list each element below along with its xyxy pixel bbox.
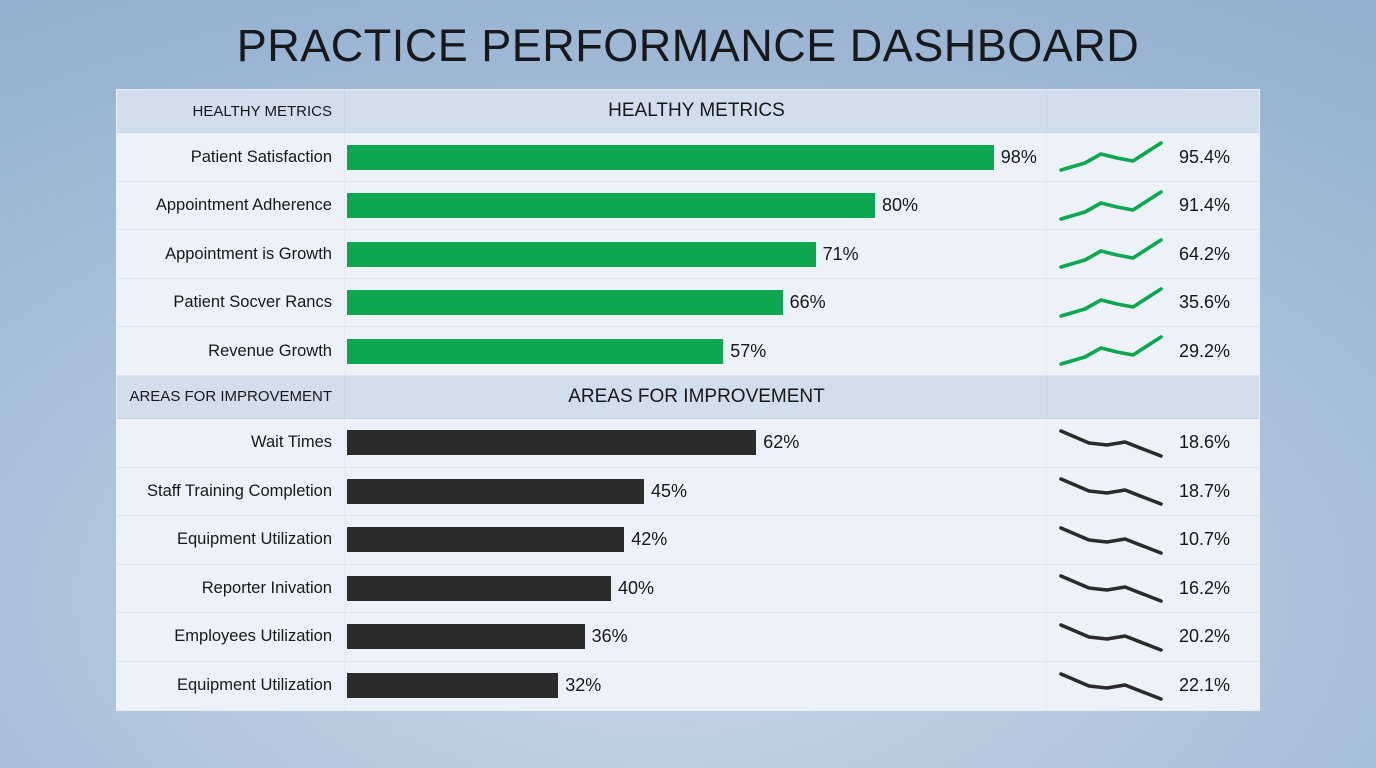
- metric-bar: [347, 339, 723, 364]
- metric-trend-cell: 10.7%: [1047, 516, 1259, 563]
- trend-down-sparkline-icon: [1057, 617, 1165, 657]
- trend-up-sparkline-icon: [1057, 137, 1165, 177]
- metric-row: Wait Times62%18.6%: [117, 419, 1259, 467]
- metric-trend-cell: 35.6%: [1047, 279, 1259, 326]
- metric-bar: [347, 576, 611, 601]
- metric-label: Equipment Utilization: [117, 662, 345, 710]
- bar-wrapper: 66%: [347, 279, 1046, 326]
- bar-wrapper: 45%: [347, 468, 1046, 515]
- metric-bar-cell: 42%: [345, 516, 1047, 563]
- metric-trend-value: 64.2%: [1179, 244, 1230, 265]
- bar-wrapper: 32%: [347, 662, 1046, 710]
- metric-bar: [347, 624, 585, 649]
- metric-trend-cell: 20.2%: [1047, 613, 1259, 660]
- metric-bar-value: 80%: [882, 195, 918, 216]
- metric-row: Employees Utilization36%20.2%: [117, 613, 1259, 661]
- metric-bar-cell: 71%: [345, 230, 1047, 277]
- metric-trend-value: 29.2%: [1179, 341, 1230, 362]
- metric-trend-cell: 91.4%: [1047, 182, 1259, 229]
- metric-trend-value: 20.2%: [1179, 626, 1230, 647]
- bar-wrapper: 98%: [347, 133, 1046, 180]
- page-title: PRACTICE PERFORMANCE DASHBOARD: [0, 20, 1376, 72]
- section-header-left-label: AREAS FOR IMPROVEMENT: [117, 376, 345, 418]
- metric-bar-cell: 80%: [345, 182, 1047, 229]
- metric-bar: [347, 242, 816, 267]
- bar-wrapper: 42%: [347, 516, 1046, 563]
- metric-trend-value: 35.6%: [1179, 292, 1230, 313]
- metric-bar-value: 40%: [618, 578, 654, 599]
- dashboard-page: PRACTICE PERFORMANCE DASHBOARD HEALTHY M…: [0, 0, 1376, 768]
- bar-wrapper: 62%: [347, 419, 1046, 466]
- bar-wrapper: 36%: [347, 613, 1046, 660]
- metric-label: Employees Utilization: [117, 613, 345, 660]
- section-header-trend-cell: [1047, 376, 1259, 418]
- metric-row: Equipment Utilization42%10.7%: [117, 516, 1259, 564]
- metric-label: Patient Satisfaction: [117, 133, 345, 180]
- trend-up-sparkline-icon: [1057, 186, 1165, 226]
- bar-wrapper: 71%: [347, 230, 1046, 277]
- metric-trend-cell: 95.4%: [1047, 133, 1259, 180]
- metric-bar-cell: 62%: [345, 419, 1047, 466]
- trend-up-sparkline-icon: [1057, 283, 1165, 323]
- metric-row: Revenue Growth57%29.2%: [117, 327, 1259, 375]
- metric-bar-value: 42%: [631, 529, 667, 550]
- metric-row: Appointment is Growth71%64.2%: [117, 230, 1259, 278]
- metric-bar-cell: 36%: [345, 613, 1047, 660]
- metric-label: Equipment Utilization: [117, 516, 345, 563]
- trend-down-sparkline-icon: [1057, 520, 1165, 560]
- metric-bar: [347, 479, 644, 504]
- metric-trend-cell: 18.6%: [1047, 419, 1259, 466]
- section-header-row: HEALTHY METRICSHEALTHY METRICS: [117, 90, 1259, 133]
- metric-row: Staff Training Completion45%18.7%: [117, 468, 1259, 516]
- metric-bar-value: 32%: [565, 675, 601, 696]
- metric-label: Revenue Growth: [117, 327, 345, 374]
- section-header-center-label: HEALTHY METRICS: [345, 90, 1047, 132]
- metric-label: Reporter Inivation: [117, 565, 345, 612]
- metric-row: Patient Socver Rancs66%35.6%: [117, 279, 1259, 327]
- bar-wrapper: 80%: [347, 182, 1046, 229]
- section-header-left-label: HEALTHY METRICS: [117, 90, 345, 132]
- metric-bar: [347, 290, 783, 315]
- metric-bar-cell: 66%: [345, 279, 1047, 326]
- metric-bar-value: 71%: [823, 244, 859, 265]
- section-header-center-label: AREAS FOR IMPROVEMENT: [345, 376, 1047, 418]
- trend-down-sparkline-icon: [1057, 423, 1165, 463]
- metric-bar-value: 66%: [790, 292, 826, 313]
- metric-label: Patient Socver Rancs: [117, 279, 345, 326]
- metric-trend-value: 18.6%: [1179, 432, 1230, 453]
- metric-bar: [347, 673, 558, 698]
- metric-bar-cell: 98%: [345, 133, 1047, 180]
- metric-label: Wait Times: [117, 419, 345, 466]
- metrics-table: HEALTHY METRICSHEALTHY METRICSPatient Sa…: [116, 89, 1260, 711]
- metric-bar-value: 98%: [1001, 147, 1037, 168]
- metric-trend-cell: 29.2%: [1047, 327, 1259, 374]
- metric-trend-cell: 18.7%: [1047, 468, 1259, 515]
- metric-bar: [347, 145, 994, 170]
- bar-wrapper: 57%: [347, 327, 1046, 374]
- metric-bar: [347, 527, 624, 552]
- metric-label: Staff Training Completion: [117, 468, 345, 515]
- metric-label: Appointment Adherence: [117, 182, 345, 229]
- metric-bar-cell: 45%: [345, 468, 1047, 515]
- bar-wrapper: 40%: [347, 565, 1046, 612]
- metric-bar-value: 57%: [730, 341, 766, 362]
- section-header-trend-cell: [1047, 90, 1259, 132]
- metric-bar-cell: 32%: [345, 662, 1047, 710]
- metric-trend-value: 16.2%: [1179, 578, 1230, 599]
- section-header-row: AREAS FOR IMPROVEMENTAREAS FOR IMPROVEME…: [117, 376, 1259, 419]
- metric-label: Appointment is Growth: [117, 230, 345, 277]
- trend-down-sparkline-icon: [1057, 568, 1165, 608]
- metric-trend-value: 10.7%: [1179, 529, 1230, 550]
- metric-trend-cell: 22.1%: [1047, 662, 1259, 710]
- metric-row: Reporter Inivation40%16.2%: [117, 565, 1259, 613]
- metric-bar: [347, 193, 875, 218]
- trend-up-sparkline-icon: [1057, 234, 1165, 274]
- metric-trend-cell: 16.2%: [1047, 565, 1259, 612]
- metric-row: Patient Satisfaction98%95.4%: [117, 133, 1259, 181]
- trend-down-sparkline-icon: [1057, 666, 1165, 706]
- metric-trend-value: 22.1%: [1179, 675, 1230, 696]
- metric-trend-value: 95.4%: [1179, 147, 1230, 168]
- metric-bar-cell: 40%: [345, 565, 1047, 612]
- metric-bar: [347, 430, 756, 455]
- metric-row: Appointment Adherence80%91.4%: [117, 182, 1259, 230]
- metric-trend-value: 18.7%: [1179, 481, 1230, 502]
- metric-bar-value: 36%: [592, 626, 628, 647]
- metric-trend-value: 91.4%: [1179, 195, 1230, 216]
- metric-bar-value: 45%: [651, 481, 687, 502]
- trend-up-sparkline-icon: [1057, 331, 1165, 371]
- metric-trend-cell: 64.2%: [1047, 230, 1259, 277]
- metric-bar-value: 62%: [763, 432, 799, 453]
- metric-row: Equipment Utilization32%22.1%: [117, 662, 1259, 710]
- metric-bar-cell: 57%: [345, 327, 1047, 374]
- trend-down-sparkline-icon: [1057, 471, 1165, 511]
